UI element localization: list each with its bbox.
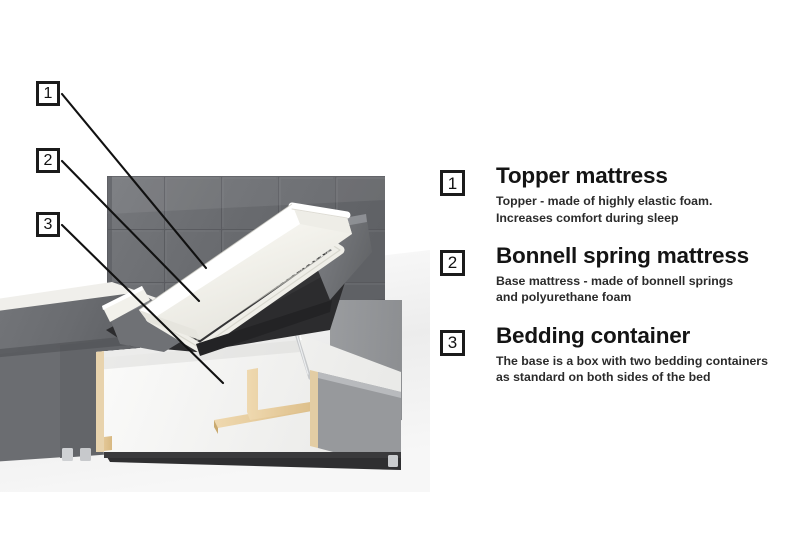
- legend-item-topper-mattress: 1 Topper mattress Topper - made of highl…: [438, 163, 794, 226]
- legend-description-3-line1: The base is a box with two bedding conta…: [496, 353, 794, 369]
- legend-number-1: 1: [440, 170, 465, 196]
- legend-description-1-line1: Topper - made of highly elastic foam.: [496, 193, 794, 209]
- legend-title-2: Bonnell spring mattress: [496, 243, 794, 268]
- legend-description-2: Base mattress - made of bonnell springs …: [496, 273, 794, 306]
- legend-title-3: Bedding container: [496, 323, 794, 348]
- legend-body: Bonnell spring mattress Base mattress - …: [496, 243, 794, 306]
- diagram-canvas: 1 2 3 1 Topper mattress Topper - made of…: [0, 0, 800, 533]
- legend-description-3-line2: as standard on both sides of the bed: [496, 369, 794, 385]
- legend-body: Topper mattress Topper - made of highly …: [496, 163, 794, 226]
- legend-description-3: The base is a box with two bedding conta…: [496, 353, 794, 386]
- legend-description-1-line2: Increases comfort during sleep: [496, 210, 794, 226]
- legend-description-2-line1: Base mattress - made of bonnell springs: [496, 273, 794, 289]
- legend-description-2-line2: and polyurethane foam: [496, 289, 794, 305]
- legend-list: 1 Topper mattress Topper - made of highl…: [438, 163, 794, 386]
- callout-marker-2: 2: [36, 148, 60, 173]
- legend-item-bonnell-spring-mattress: 2 Bonnell spring mattress Base mattress …: [438, 243, 794, 306]
- callout-marker-3: 3: [36, 212, 60, 237]
- callout-marker-1: 1: [36, 81, 60, 106]
- legend-description-1: Topper - made of highly elastic foam. In…: [496, 193, 794, 226]
- legend-number-3: 3: [440, 330, 465, 356]
- bed-leg: [62, 448, 73, 461]
- legend-item-bedding-container: 3 Bedding container The base is a box wi…: [438, 323, 794, 386]
- legend-title-1: Topper mattress: [496, 163, 794, 188]
- legend-body: Bedding container The base is a box with…: [496, 323, 794, 386]
- legend-number-2: 2: [440, 250, 465, 276]
- bed-leg: [80, 448, 91, 461]
- bed-leg: [388, 455, 398, 467]
- bed-illustration: [0, 0, 430, 500]
